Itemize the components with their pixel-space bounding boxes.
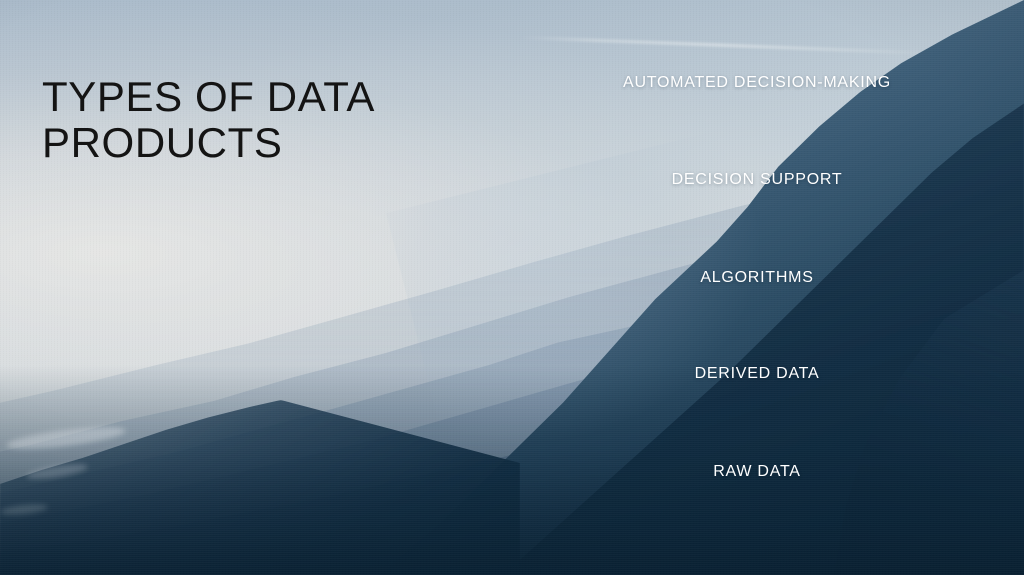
stage-label-algorithms: ALGORITHMS: [607, 269, 907, 287]
slide-canvas: TYPES OF DATA PRODUCTS AUTOMATED DECISIO…: [0, 0, 1024, 575]
stage-label-decision-support: DECISION SUPPORT: [607, 171, 907, 189]
data-product-stage-list: AUTOMATED DECISION-MAKING DECISION SUPPO…: [607, 0, 907, 575]
page-title: TYPES OF DATA PRODUCTS: [42, 74, 462, 166]
stage-label-raw-data: RAW DATA: [607, 463, 907, 481]
stage-label-derived-data: DERIVED DATA: [607, 365, 907, 383]
stage-label-automated-decision-making: AUTOMATED DECISION-MAKING: [607, 74, 907, 92]
